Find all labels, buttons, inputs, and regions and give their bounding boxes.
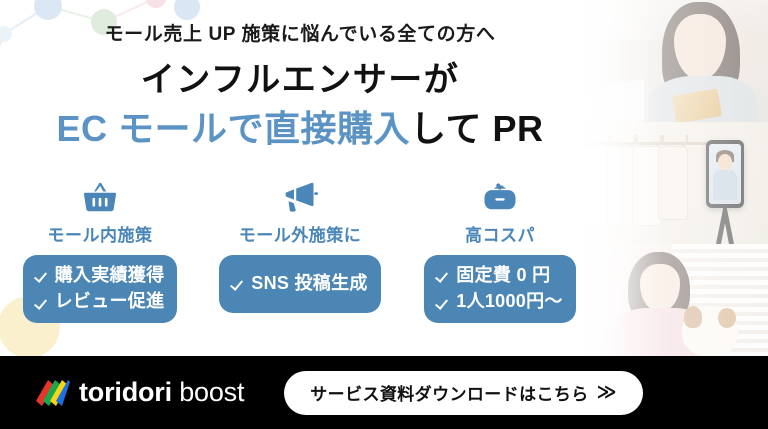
hanger-shape — [662, 135, 688, 149]
photo-1-background — [578, 0, 768, 122]
shopping-basket-icon — [83, 178, 117, 216]
shirt-shape — [658, 146, 688, 220]
photo-3-background — [578, 244, 768, 356]
brand-name: toridori boost — [79, 379, 244, 406]
hair-shape — [662, 2, 740, 106]
blue-dot-decoration — [174, 0, 200, 20]
feature-label: 高コスパ — [465, 221, 535, 246]
photo-woman-holding-small-dog — [578, 244, 768, 356]
headline-block: モール売上 UP 施策に悩んでいる全ての方へ インフルエンサーが EC モールで… — [0, 24, 600, 150]
feature-box: 購入実績獲得 レビュー促進 — [23, 255, 178, 323]
hanger-shape — [610, 135, 636, 149]
feature-box: SNS 投稿生成 — [219, 255, 380, 313]
feature-column-outside-mall: モール外施策に SNS 投稿生成 — [211, 178, 389, 313]
feature-column-cost-performance: 高コスパ 固定費 0 円 1人1000円〜 — [411, 178, 589, 323]
dog-ear-shape — [684, 306, 702, 328]
shirt-shape — [632, 146, 662, 226]
check-icon — [437, 269, 450, 282]
screen-person-face — [718, 154, 732, 170]
photo-2-content — [578, 122, 768, 244]
face-shape — [674, 14, 726, 80]
screen-person-body — [713, 170, 737, 200]
download-brochure-button[interactable]: サービス資料ダウンロードはこちら ≫ — [284, 371, 643, 415]
feature-item-label: SNS 投稿生成 — [251, 272, 367, 295]
headline-line-2-blue: EC モールで直接購入 — [57, 108, 411, 149]
megaphone-icon — [282, 178, 318, 216]
feature-label: モール外施策に — [239, 221, 362, 246]
feature-item: SNS 投稿生成 — [232, 272, 367, 295]
check-icon — [36, 269, 49, 282]
torso-shape — [648, 76, 758, 122]
feature-column-in-mall: モール内施策 購入実績獲得 レビュー促進 — [11, 178, 189, 323]
photo-3-content — [578, 244, 768, 356]
headline-line-2: EC モールで直接購入して PR — [0, 107, 600, 150]
clothes-rail-shape — [578, 142, 728, 145]
coin-purse-icon — [482, 178, 518, 216]
feature-item: 購入実績獲得 — [36, 264, 165, 287]
photo-phone-on-tripod-filming-clothes-rack — [578, 122, 768, 244]
eyebrow-text: モール売上 UP 施策に悩んでいる全ての方へ — [0, 24, 600, 47]
photo-1-content — [578, 0, 768, 122]
window-blinds-shape — [672, 244, 768, 356]
hair-shape — [628, 252, 690, 326]
smartphone-shape — [706, 140, 744, 208]
hanger-shape — [636, 135, 662, 149]
feature-item: 1人1000円〜 — [437, 290, 562, 313]
footer-bar: toridori boost サービス資料ダウンロードはこちら ≫ — [0, 356, 768, 429]
toridori-logo-icon — [36, 380, 70, 406]
feature-item: レビュー促進 — [36, 290, 165, 313]
marketing-banner: モール売上 UP 施策に悩んでいる全ての方へ インフルエンサーが EC モールで… — [0, 0, 768, 429]
feature-columns: モール内施策 購入実績獲得 レビュー促進 — [0, 178, 600, 323]
headline-line-2-black: して PR — [410, 108, 543, 149]
dog-shape — [682, 306, 738, 356]
face-shape — [640, 264, 680, 312]
shirt-shape — [606, 146, 636, 226]
feature-label: モール内施策 — [48, 221, 153, 246]
check-icon — [232, 277, 245, 290]
feature-item-label: レビュー促進 — [55, 290, 165, 313]
brand-lockup: toridori boost — [36, 379, 244, 406]
credit-card-shape — [672, 88, 722, 122]
cta-label: サービス資料ダウンロードはこちら — [310, 380, 588, 405]
check-icon — [36, 296, 49, 309]
feature-item: 固定費 0 円 — [437, 264, 562, 287]
feature-box: 固定費 0 円 1人1000円〜 — [424, 255, 575, 323]
torso-shape — [612, 308, 706, 356]
phone-screen — [709, 144, 741, 204]
photo-woman-with-laptop-and-credit-card — [578, 0, 768, 122]
feature-item-label: 1人1000円〜 — [456, 290, 562, 313]
dog-patch-shape — [718, 308, 736, 328]
photo-2-background — [578, 122, 768, 244]
headline-line-1: インフルエンサーが — [0, 60, 600, 101]
check-icon — [437, 296, 450, 309]
double-chevron-right-icon: ≫ — [597, 383, 617, 402]
screen-person-hair — [716, 150, 734, 162]
feature-item-label: 購入実績獲得 — [55, 264, 165, 287]
photo-strip — [578, 0, 768, 356]
tripod-shape — [716, 208, 734, 244]
brand-name-light: boost — [179, 377, 244, 407]
feature-item-label: 固定費 0 円 — [456, 264, 550, 287]
brand-name-bold: toridori — [79, 377, 172, 407]
